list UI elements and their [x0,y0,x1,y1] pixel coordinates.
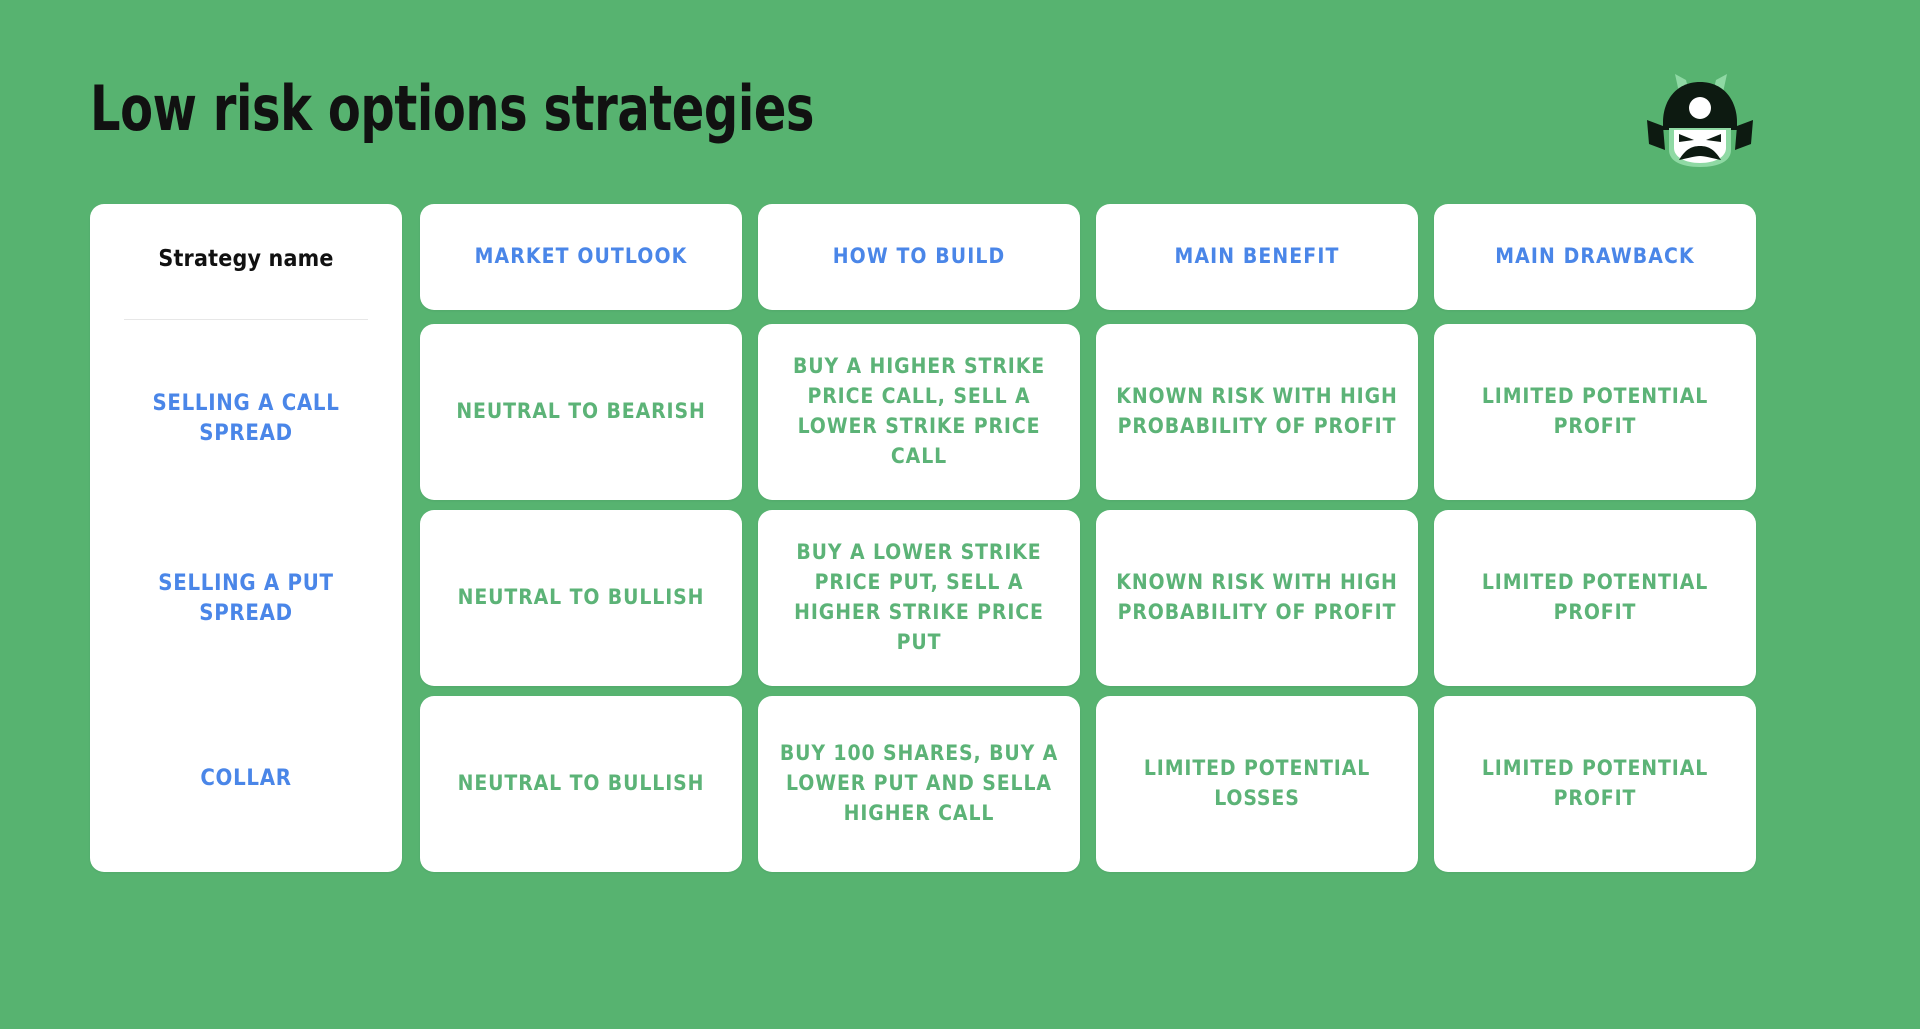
cell-market-outlook[interactable]: NEUTRAL TO BEARISH [420,324,742,500]
samurai-helmet-icon [1645,68,1755,168]
cell-text: KNOWN RISK WITH HIGH PROBABILITY OF PROF… [1114,382,1400,442]
cell-text: BUY A LOWER STRIKE PRICE PUT, SELL A HIG… [776,538,1062,657]
cell-text: LIMITED POTENTIAL LOSSES [1114,754,1400,814]
column-header-card-main-drawback[interactable]: MAIN DRAWBACK [1434,204,1756,310]
strategy-name-cell[interactable]: COLLAR [90,689,402,869]
strategy-name-column-header: Strategy name [90,204,402,314]
column-header-label: MARKET OUTLOOK [475,243,688,270]
cell-main-drawback[interactable]: LIMITED POTENTIAL PROFIT [1434,324,1756,500]
cell-how-to-build[interactable]: BUY 100 SHARES, BUY A LOWER PUT AND SELL… [758,696,1080,872]
samurai-helmet-logo [1645,68,1755,168]
strategy-name-cell[interactable]: SELLING A CALL SPREAD [90,329,402,509]
column-header-card-main-benefit[interactable]: MAIN BENEFIT [1096,204,1418,310]
column-header-label: HOW TO BUILD [833,243,1006,270]
cell-text: LIMITED POTENTIAL PROFIT [1452,754,1738,814]
column-header-label: MAIN BENEFIT [1175,243,1340,270]
column-header-card-how-to-build[interactable]: HOW TO BUILD [758,204,1080,310]
strategy-name-column: Strategy name SELLING A CALL SPREAD SELL… [90,204,402,872]
cell-main-benefit[interactable]: LIMITED POTENTIAL LOSSES [1096,696,1418,872]
cell-main-benefit[interactable]: KNOWN RISK WITH HIGH PROBABILITY OF PROF… [1096,324,1418,500]
cell-how-to-build[interactable]: BUY A LOWER STRIKE PRICE PUT, SELL A HIG… [758,510,1080,686]
cell-text: BUY 100 SHARES, BUY A LOWER PUT AND SELL… [776,739,1062,828]
cell-market-outlook[interactable]: NEUTRAL TO BULLISH [420,696,742,872]
cell-market-outlook[interactable]: NEUTRAL TO BULLISH [420,510,742,686]
cell-text: LIMITED POTENTIAL PROFIT [1452,382,1738,442]
page-title: Low risk options strategies [90,78,814,140]
strategy-comparison-table: Strategy name SELLING A CALL SPREAD SELL… [90,204,1758,872]
cell-text: BUY A HIGHER STRIKE PRICE CALL, SELL A L… [776,352,1062,471]
cell-main-benefit[interactable]: KNOWN RISK WITH HIGH PROBABILITY OF PROF… [1096,510,1418,686]
cell-main-drawback[interactable]: LIMITED POTENTIAL PROFIT [1434,696,1756,872]
column-header-label: MAIN DRAWBACK [1495,243,1694,270]
column-header-card-market-outlook[interactable]: MARKET OUTLOOK [420,204,742,310]
cell-text: NEUTRAL TO BULLISH [458,583,705,613]
cell-text: NEUTRAL TO BULLISH [458,769,705,799]
cell-how-to-build[interactable]: BUY A HIGHER STRIKE PRICE CALL, SELL A L… [758,324,1080,500]
cell-text: NEUTRAL TO BEARISH [456,397,705,427]
cell-main-drawback[interactable]: LIMITED POTENTIAL PROFIT [1434,510,1756,686]
column-divider [124,319,368,320]
cell-text: KNOWN RISK WITH HIGH PROBABILITY OF PROF… [1114,568,1400,628]
cell-text: LIMITED POTENTIAL PROFIT [1452,568,1738,628]
strategy-name-cell[interactable]: SELLING A PUT SPREAD [90,509,402,689]
page-header: Low risk options strategies [0,0,1920,200]
